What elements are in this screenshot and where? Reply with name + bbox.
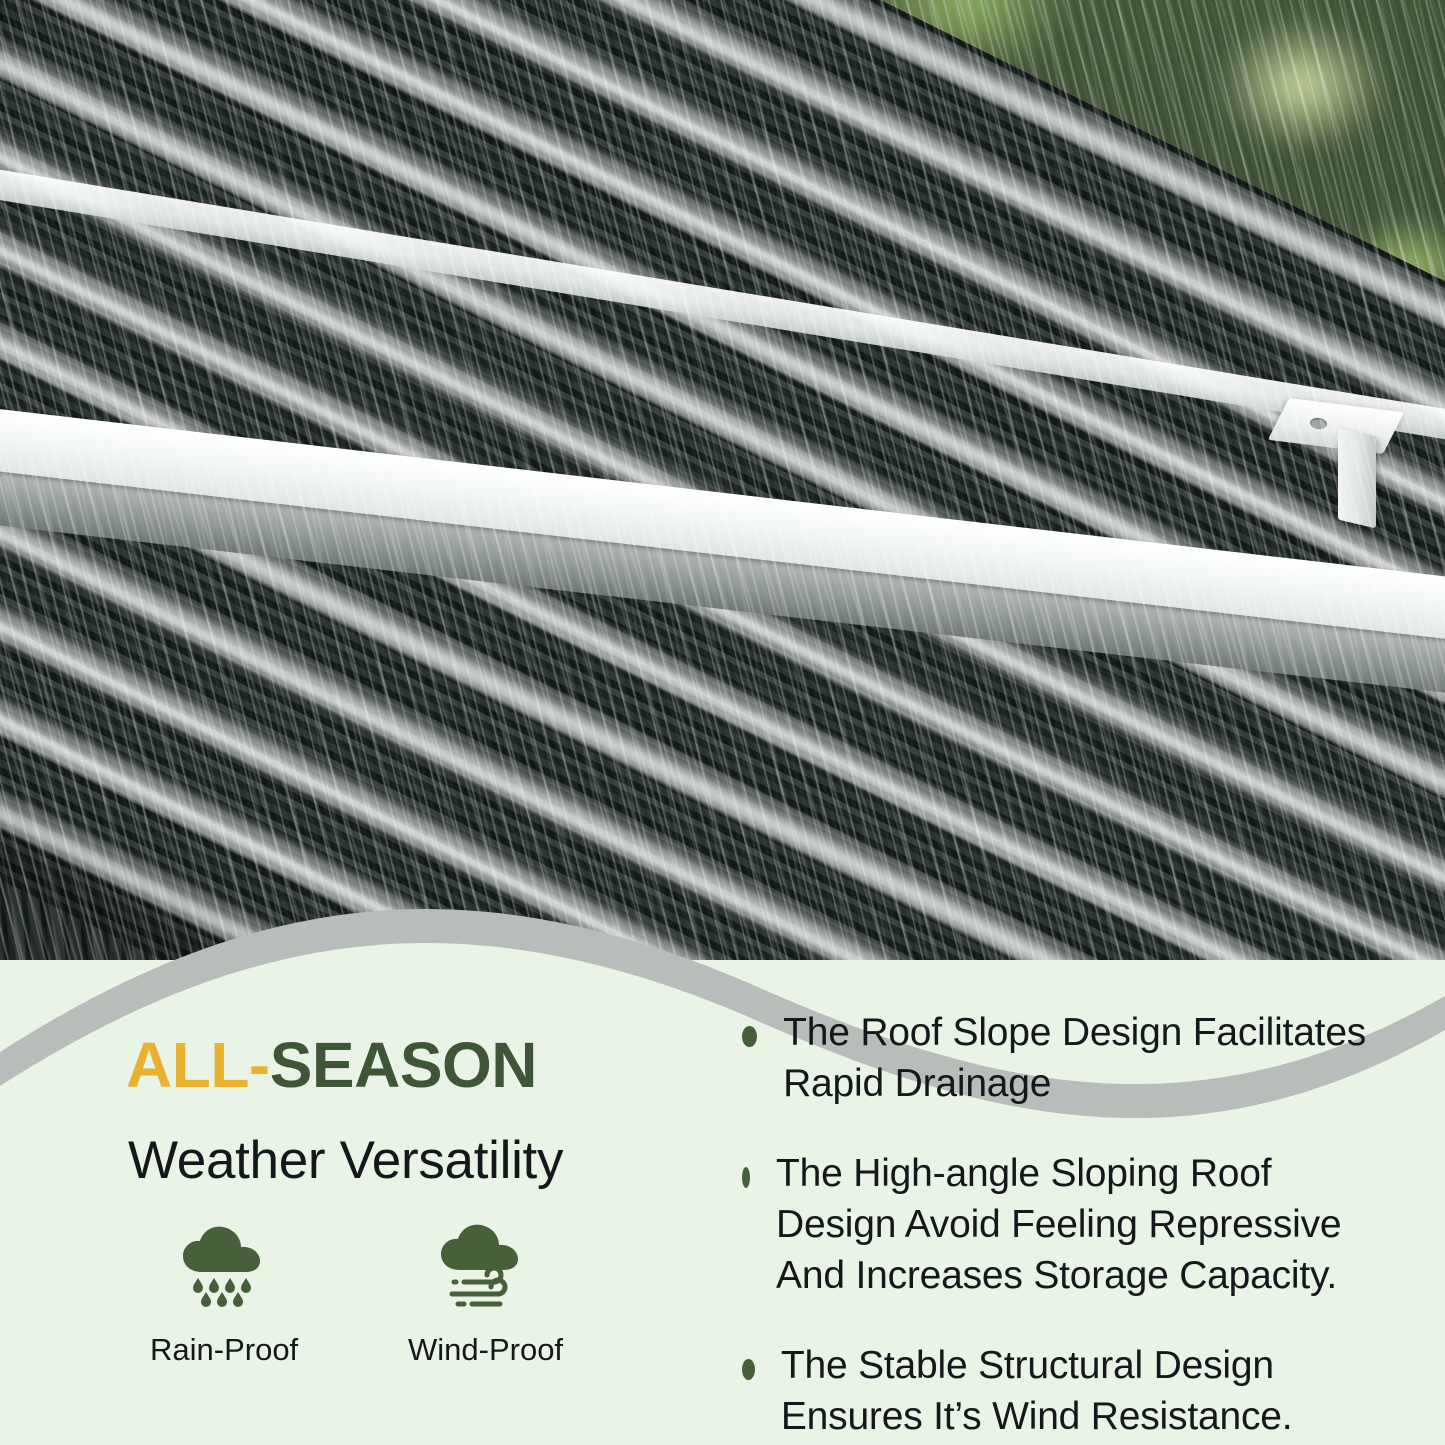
bullet-text: The Roof Slope Design Facilitates Rapid … <box>783 1008 1402 1109</box>
bullet-dot-icon <box>742 1026 757 1047</box>
feature-bullet-list: The Roof Slope Design Facilitates Rapid … <box>742 1008 1402 1445</box>
feature-label-wind-proof: Wind-Proof <box>408 1332 556 1368</box>
wind-cloud-icon <box>408 1222 556 1318</box>
headline-part-2: SEASON <box>270 1029 537 1101</box>
bullet-text: The High-angle Sloping Roof Design Avoid… <box>776 1149 1402 1301</box>
product-feature-banner: ALL-SEASON Weather Versatility <box>0 0 1445 1445</box>
bullet-dot-icon <box>742 1359 755 1380</box>
bullet-text: The Stable Structural Design Ensures It’… <box>781 1341 1402 1442</box>
page-title: ALL-SEASON <box>126 1028 537 1102</box>
corner-bracket-leg <box>1338 428 1376 529</box>
list-item: The High-angle Sloping Roof Design Avoid… <box>742 1149 1402 1301</box>
list-item: The Stable Structural Design Ensures It’… <box>742 1341 1402 1442</box>
feature-icon-group: Rain-Proof Wind-Proof <box>150 1222 556 1368</box>
page-subtitle: Weather Versatility <box>128 1130 563 1191</box>
rain-cloud-icon <box>150 1222 298 1318</box>
product-photo <box>0 0 1445 960</box>
feature-panel: ALL-SEASON Weather Versatility <box>0 960 1445 1445</box>
feature-rain-proof: Rain-Proof <box>150 1222 298 1368</box>
bullet-dot-icon <box>742 1167 750 1188</box>
feature-label-rain-proof: Rain-Proof <box>150 1332 298 1368</box>
headline-part-1: ALL- <box>126 1029 270 1101</box>
list-item: The Roof Slope Design Facilitates Rapid … <box>742 1008 1402 1109</box>
feature-wind-proof: Wind-Proof <box>408 1222 556 1368</box>
